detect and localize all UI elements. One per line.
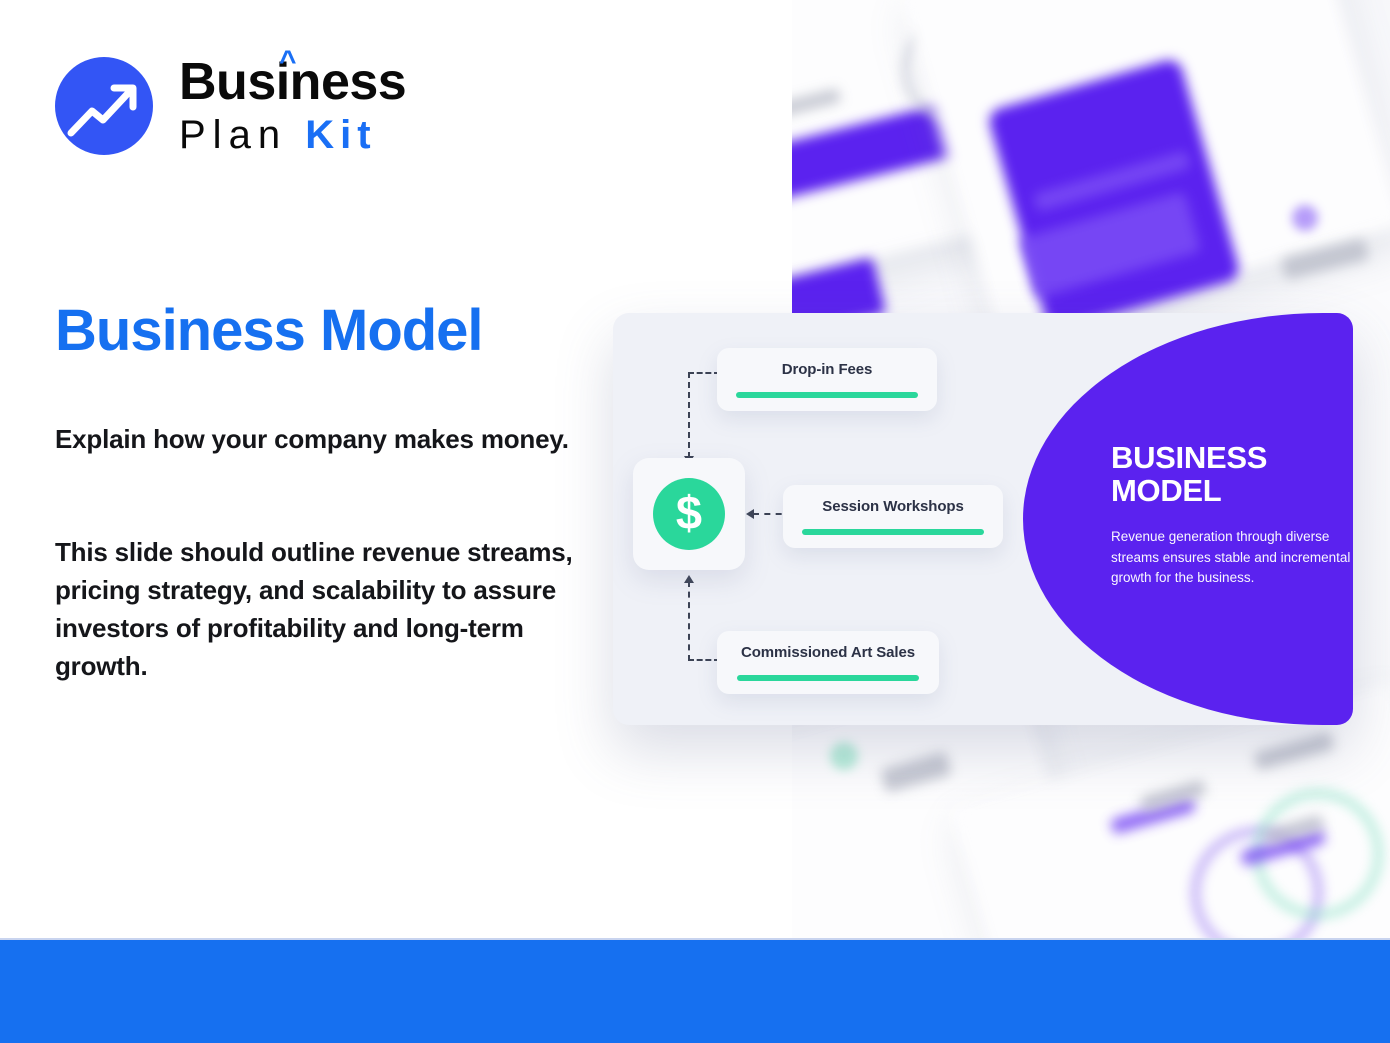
brand-wordmark: Business ^ Plan Kit <box>179 56 406 155</box>
slide-preview-card[interactable]: $ Drop-in Fees Session Workshops Commiss… <box>613 313 1353 725</box>
stream-node-commissioned-art-sales[interactable]: Commissioned Art Sales <box>717 631 939 694</box>
panel-body-text: Revenue generation through diverse strea… <box>1111 527 1353 589</box>
panel-title-line2: MODEL <box>1111 474 1353 507</box>
stream-node-label: Drop-in Fees <box>782 361 872 378</box>
panel-title-line1: BUSINESS <box>1111 441 1353 474</box>
dollar-sign-icon: $ <box>653 478 725 550</box>
background-dot <box>1292 205 1318 231</box>
brand-logo: Business ^ Plan Kit <box>55 56 406 155</box>
arrow-left-icon <box>746 509 754 519</box>
stream-node-progress-bar <box>736 392 918 398</box>
background-dot <box>830 742 858 770</box>
body-paragraph-2: This slide should outline revenue stream… <box>55 534 575 686</box>
arrow-up-icon <box>684 575 694 583</box>
page-title: Business Model <box>55 297 483 364</box>
stream-node-label: Commissioned Art Sales <box>741 644 915 661</box>
stream-node-label: Session Workshops <box>822 498 963 515</box>
brand-name-line2-accent: Kit <box>305 113 376 157</box>
brand-name-line2-plain: Plan <box>179 113 287 157</box>
connector-bottom-horizontal <box>688 659 720 661</box>
brand-name-line1: Business ^ <box>179 56 406 108</box>
brand-name-line2: Plan Kit <box>179 115 406 155</box>
stream-node-drop-in-fees[interactable]: Drop-in Fees <box>717 348 937 411</box>
revenue-hub-tile[interactable]: $ <box>633 458 745 570</box>
connector-bottom-vertical <box>688 581 690 661</box>
brand-accent-caret: ^ <box>279 47 296 77</box>
connector-top-vertical <box>688 372 690 458</box>
stream-node-session-workshops[interactable]: Session Workshops <box>783 485 1003 548</box>
connector-top-horizontal <box>688 372 720 374</box>
stream-node-progress-bar <box>802 529 984 535</box>
body-paragraph-1: Explain how your company makes money. <box>55 421 575 459</box>
growth-chart-circle-icon <box>55 57 153 155</box>
footer-bar <box>0 940 1390 1043</box>
panel-title: BUSINESS MODEL <box>1111 441 1353 508</box>
stream-node-progress-bar <box>737 675 919 681</box>
